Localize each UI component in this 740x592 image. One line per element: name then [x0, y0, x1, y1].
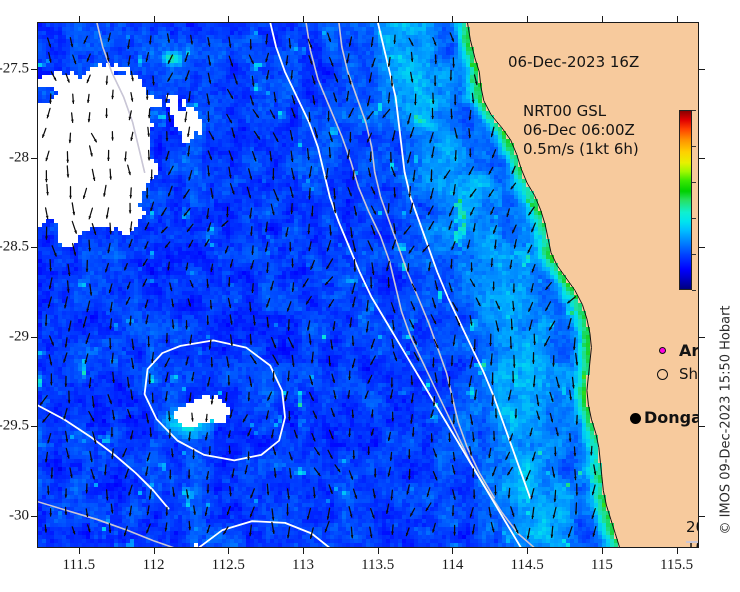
y-axis-tick-right	[699, 516, 705, 517]
bathymetry-key: 200m 1000m	[686, 517, 699, 548]
vector-scale-label: 0.5m/s (1kt 6h)	[523, 140, 639, 159]
colorbar-tick	[692, 254, 696, 255]
x-axis-tick	[527, 548, 528, 554]
ship-marker-icon	[653, 369, 671, 380]
x-axis-tick-top	[527, 16, 528, 22]
dongara-dot-icon	[630, 413, 641, 424]
bathy-label-200m: 200m	[686, 517, 699, 537]
x-axis-tick	[677, 548, 678, 554]
y-axis-tick-right	[699, 247, 705, 248]
colorbar-gradient	[679, 110, 692, 290]
legend-item-argo[interactable]: Argo	[653, 338, 699, 362]
x-axis-label: 112.5	[212, 557, 245, 574]
legend-item-ship[interactable]: Ship	[653, 362, 699, 386]
colorbar-tick	[692, 146, 696, 147]
x-axis-label: 113.5	[361, 557, 394, 574]
current-vector-info: NRT00 GSL 06-Dec 06:00Z 0.5m/s (1kt 6h)	[523, 102, 639, 159]
x-axis-tick-top	[677, 16, 678, 22]
x-axis-tick-top	[378, 16, 379, 22]
x-axis-tick	[452, 548, 453, 554]
vector-time-label: 06-Dec 06:00Z	[523, 121, 639, 140]
x-axis-label: 114	[441, 557, 463, 574]
x-axis-tick	[79, 548, 80, 554]
map-legend: Argo Ship	[653, 338, 699, 386]
y-axis-label: -28.5	[0, 239, 29, 256]
y-axis-tick	[31, 516, 37, 517]
x-axis-tick-top	[602, 16, 603, 22]
x-axis-tick-top	[154, 16, 155, 22]
credit-text: © IMOS 09-Dec-2023 15:50 Hobart	[719, 305, 734, 534]
x-axis-tick	[303, 548, 304, 554]
y-axis-tick	[31, 426, 37, 427]
timestamp-label: 06-Dec-2023 16Z	[508, 53, 639, 71]
x-axis-label: 113	[292, 557, 314, 574]
sst-map-figure: 06-Dec-2023 16Z NRT00 GSL 06-Dec 06:00Z …	[0, 0, 740, 592]
colorbar-tick	[692, 110, 696, 111]
x-axis-tick	[154, 548, 155, 554]
argo-marker-icon	[653, 347, 671, 354]
y-axis-tick	[31, 337, 37, 338]
x-axis-tick-top	[303, 16, 304, 22]
x-axis-label: 115.5	[660, 557, 693, 574]
y-axis-label: -29.5	[0, 418, 29, 435]
x-axis-tick-top	[452, 16, 453, 22]
dongara-label: Dongara	[644, 408, 699, 427]
bathy-label-1000m: 1000m	[686, 537, 699, 548]
x-axis-tick-top	[79, 16, 80, 22]
x-axis-tick	[378, 548, 379, 554]
y-axis-label: -30	[9, 507, 29, 524]
x-axis-label: 112	[143, 557, 165, 574]
y-axis-label: -29	[9, 328, 29, 345]
colorbar-tick	[692, 290, 696, 291]
x-axis-tick	[602, 548, 603, 554]
legend-label-argo: Argo	[679, 341, 699, 360]
x-axis-label: 115	[591, 557, 613, 574]
bathy-line-200m	[686, 541, 699, 543]
y-axis-tick	[31, 69, 37, 70]
colorbar-tick	[692, 218, 696, 219]
y-axis-tick	[31, 247, 37, 248]
y-axis-label: -27.5	[0, 60, 29, 77]
map-plot-area[interactable]: 06-Dec-2023 16Z NRT00 GSL 06-Dec 06:00Z …	[37, 22, 699, 548]
x-axis-tick	[228, 548, 229, 554]
y-axis-tick-right	[699, 337, 705, 338]
colorbar-tick	[692, 182, 696, 183]
y-axis-tick-right	[699, 69, 705, 70]
vector-source-label: NRT00 GSL	[523, 102, 639, 121]
x-axis-tick-top	[228, 16, 229, 22]
y-axis-label: -28	[9, 149, 29, 166]
legend-label-ship: Ship	[679, 365, 699, 383]
y-axis-tick	[31, 158, 37, 159]
x-axis-label: 114.5	[511, 557, 544, 574]
x-axis-label: 111.5	[63, 557, 96, 574]
y-axis-tick-right	[699, 158, 705, 159]
y-axis-tick-right	[699, 426, 705, 427]
